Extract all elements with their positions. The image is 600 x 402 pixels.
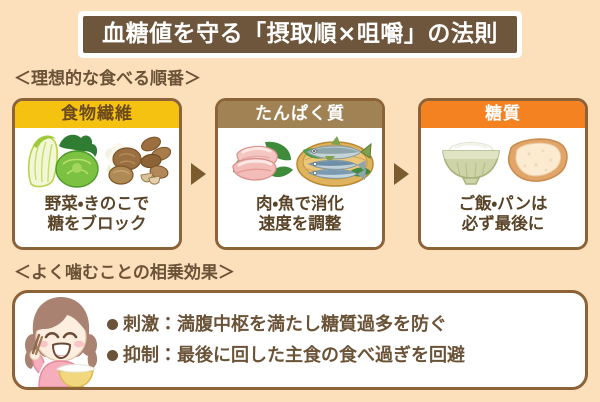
vegetables-mushrooms-illustration <box>23 132 171 190</box>
step-card-protein-body: 肉・魚で消化 速度を調整 <box>218 128 382 247</box>
rice-bowl-icon <box>443 143 499 185</box>
fiber-illustration <box>15 131 179 191</box>
section-label-chewing-effects: ＜よく噛むことの相乗効果＞ <box>14 265 235 282</box>
step-card-protein-caption: 肉・魚で消化 速度を調整 <box>256 194 344 234</box>
step-card-fiber: 食物繊維 <box>12 98 182 250</box>
bullet-dot-icon <box>107 319 118 330</box>
infographic-root: 血糖値を守る「摂取順×咀嚼」の法則 ＜理想的な食べる順番＞ 食物繊維 <box>0 0 600 402</box>
eating-order-steps: 食物繊維 <box>12 98 588 250</box>
lettuce-icon <box>56 135 98 187</box>
bullet-dot-icon-2 <box>107 350 118 361</box>
step-card-protein: たんぱく質 <box>215 98 385 250</box>
carbs-illustration <box>421 131 585 191</box>
bullet-text-stimulation: 刺激：満腹中枢を満たし糖質過多を防ぐ <box>123 316 447 334</box>
bullet-item-suppression: 抑制：最後に回した主食の食べ過ぎを回避 <box>107 347 575 365</box>
meat-fish-illustration <box>225 132 375 190</box>
bullet-item-stimulation: 刺激：満腹中枢を満たし糖質過多を防ぐ <box>107 316 575 334</box>
arrow-gap-2 <box>385 98 418 250</box>
rice-bread-illustration <box>433 132 573 190</box>
chinese-cabbage-icon <box>29 135 58 186</box>
step-card-fiber-header: 食物繊維 <box>15 101 179 128</box>
step-card-carbs-header: 糖質 <box>421 101 585 128</box>
title-banner: 血糖値を守る「摂取順×咀嚼」の法則 <box>78 11 522 58</box>
arrow-gap-1 <box>182 98 215 250</box>
step-card-fiber-caption: 野菜・きのこで 糖をブロック <box>45 194 150 234</box>
title-bar: 血糖値を守る「摂取順×咀嚼」の法則 <box>83 16 517 53</box>
shimeji-mushroom-icon <box>139 134 171 184</box>
chewing-effects-panel: 刺激：満腹中枢を満たし糖質過多を防ぐ 抑制：最後に回した主食の食べ過ぎを回避 <box>12 290 588 390</box>
fish-on-basket-icon <box>297 136 373 186</box>
section-label-eating-order: ＜理想的な食べる順番＞ <box>14 71 201 88</box>
protein-illustration <box>218 131 382 191</box>
step-card-carbs-caption: ご飯・パンは 必ず最後に <box>459 194 548 234</box>
arrow-right-icon <box>191 163 206 185</box>
chewing-effect-bullets: 刺激：満腹中枢を満たし糖質過多を防ぐ 抑制：最後に回した主食の食べ過ぎを回避 <box>107 316 585 365</box>
step-card-fiber-body: 野菜・きのこで 糖をブロック <box>15 128 179 247</box>
bullet-text-suppression: 抑制：最後に回した主食の食べ過ぎを回避 <box>123 347 465 365</box>
step-card-carbs-body: ご飯・パンは 必ず最後に <box>421 128 585 247</box>
page-title: 血糖値を守る「摂取順×咀嚼」の法則 <box>102 23 498 46</box>
character-slot <box>15 293 107 387</box>
pork-steak-icon <box>233 147 277 180</box>
arrow-right-icon-2 <box>394 163 409 185</box>
smiling-girl-with-rice-bowl-icon <box>17 293 105 387</box>
step-card-protein-header: たんぱく質 <box>218 101 382 128</box>
bread-slice-icon <box>509 139 567 181</box>
step-card-carbs: 糖質 <box>418 98 588 250</box>
